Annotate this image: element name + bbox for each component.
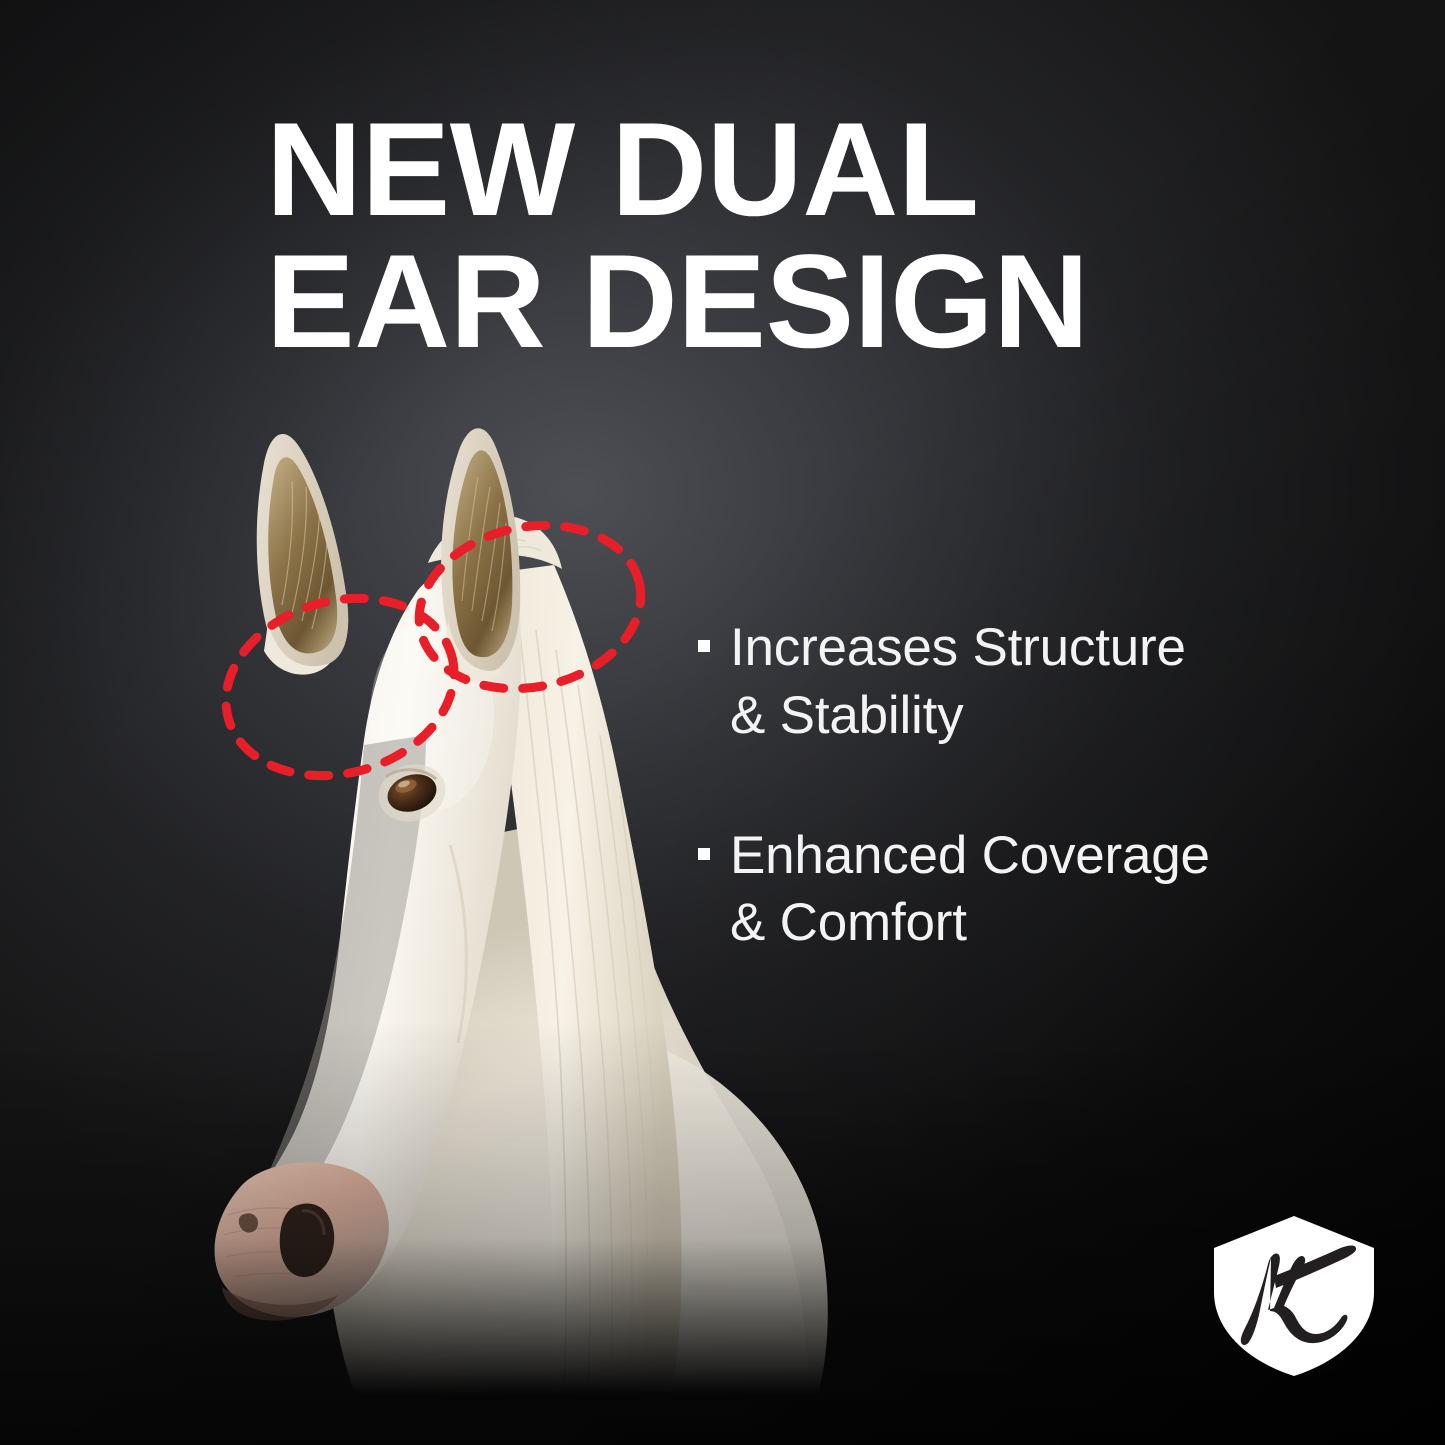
bullet-text: Enhanced Coverage & Comfort xyxy=(730,822,1210,958)
brand-logo xyxy=(1208,1214,1380,1378)
headline: NEW DUAL EAR DESIGN xyxy=(266,108,1206,365)
list-item: Increases Structure & Stability xyxy=(698,614,1358,750)
bullet-square-icon xyxy=(698,848,710,860)
ad-creative-canvas: NEW DUAL EAR DESIGN xyxy=(0,0,1445,1445)
bullet-1-line-1: Increases Structure xyxy=(730,614,1186,682)
bullet-2-line-1: Enhanced Coverage xyxy=(730,822,1210,890)
horse-ear-left xyxy=(257,434,349,675)
bullet-2-line-2: & Comfort xyxy=(730,889,1210,957)
shield-shape xyxy=(1214,1216,1374,1376)
headline-line-2: EAR DESIGN xyxy=(266,240,1206,364)
bullet-square-icon xyxy=(698,640,710,652)
bullet-1-line-2: & Stability xyxy=(730,682,1186,750)
shield-badge-icon xyxy=(1208,1214,1380,1378)
benefit-list: Increases Structure & Stability Enhanced… xyxy=(698,614,1358,1029)
list-item: Enhanced Coverage & Comfort xyxy=(698,822,1358,958)
bullet-text: Increases Structure & Stability xyxy=(730,614,1186,750)
headline-line-1: NEW DUAL xyxy=(266,108,1206,232)
